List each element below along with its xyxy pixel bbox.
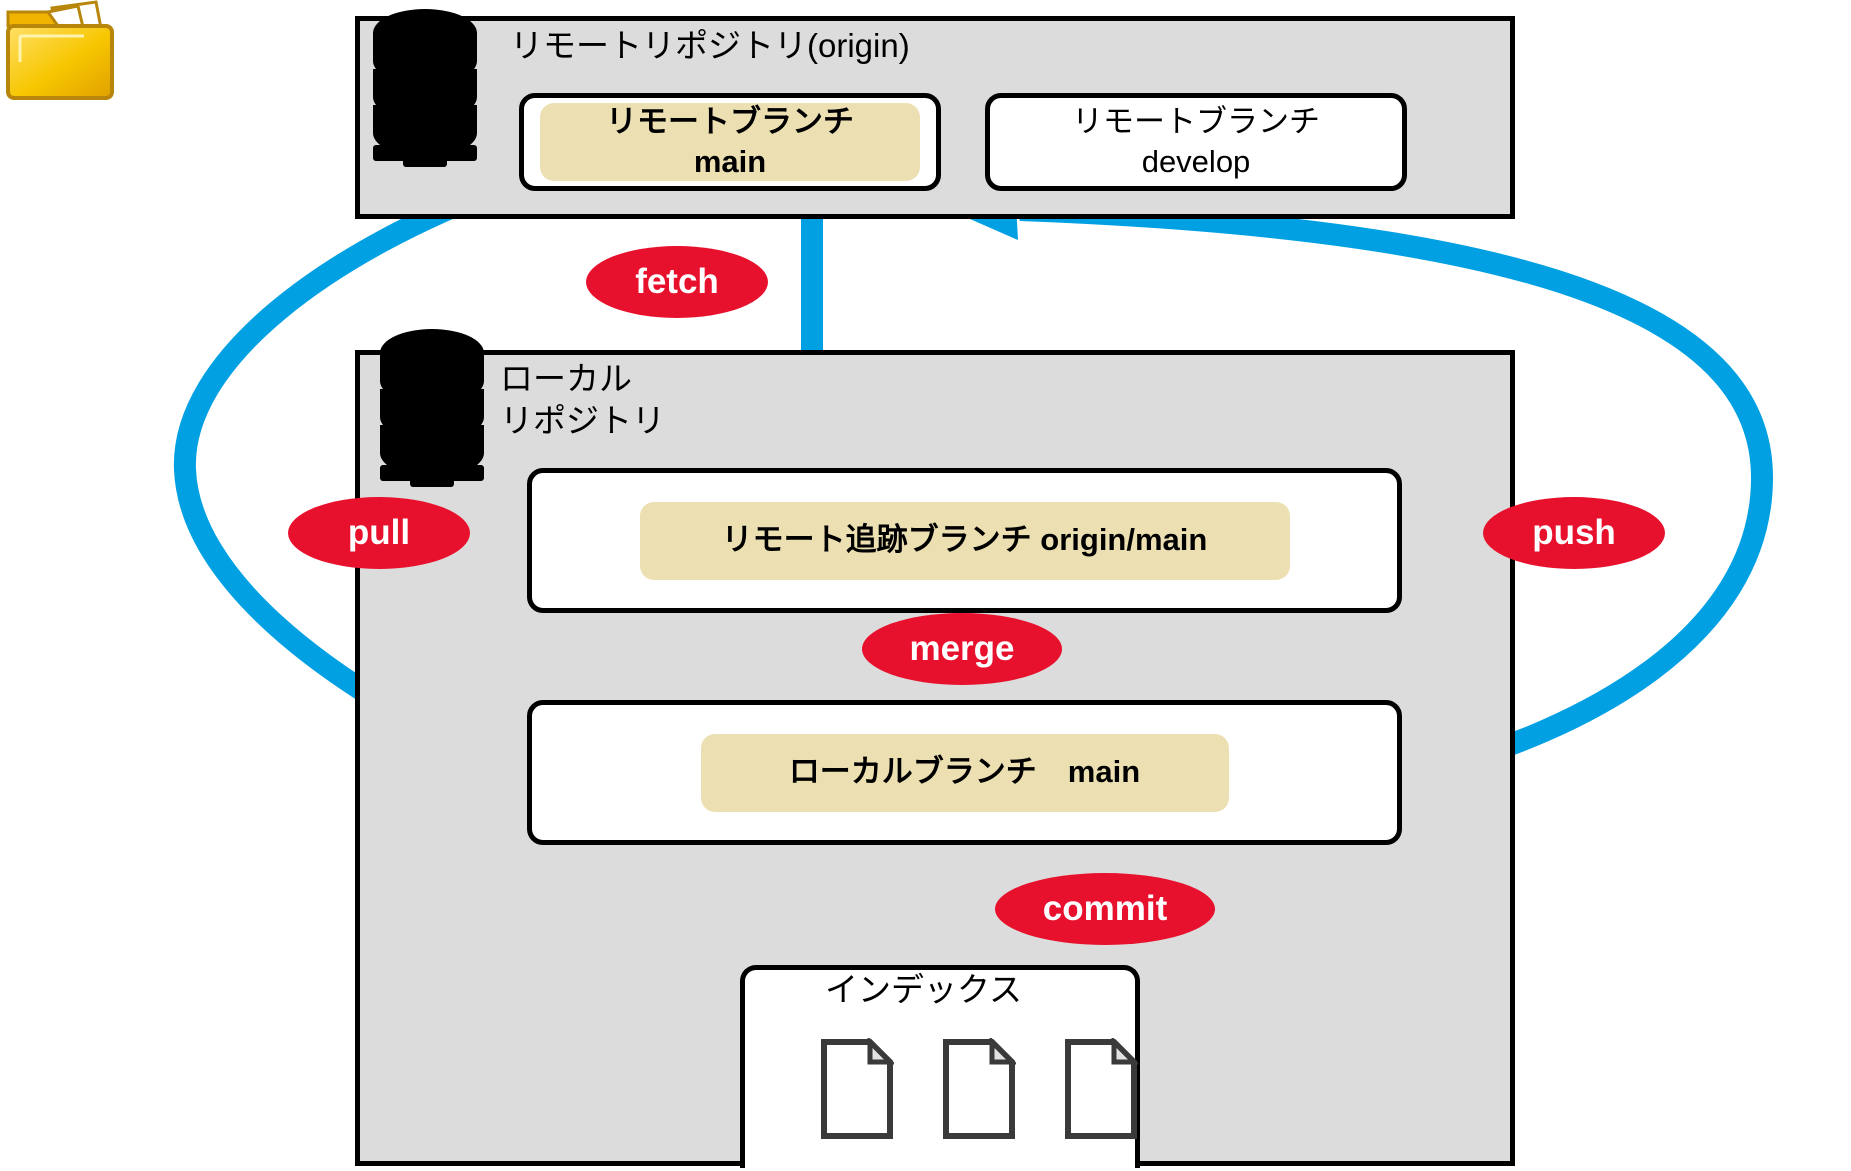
remote-branch-main-label-line1: リモートブランチ — [606, 102, 854, 142]
operation-label-pull: pull — [288, 497, 470, 569]
remote-branch-develop-fill: リモートブランチ develop — [1006, 103, 1386, 181]
local-repository-title: ローカル リポジトリ — [500, 358, 665, 442]
remote-branch-develop-label-line1: リモートブランチ — [1072, 102, 1320, 142]
remote-branch-develop-label-line2: develop — [1142, 142, 1251, 182]
diagram-canvas: .ar { fill: none; stroke: #00a0e3; strok… — [0, 0, 1851, 1171]
local-branch-label: ローカルブランチ main — [789, 752, 1140, 792]
database-icon — [352, 325, 512, 495]
remote-branch-main-label-line2: main — [694, 142, 766, 182]
file-icon — [942, 1038, 1016, 1140]
remote-branch-main[interactable]: リモートブランチ main — [519, 93, 941, 191]
folder-icon — [0, 0, 120, 105]
index-label: インデックス — [825, 963, 1022, 1011]
remote-tracking-branch-box[interactable]: リモート追跡ブランチ origin/main — [527, 468, 1402, 613]
operation-label-fetch: fetch — [586, 246, 768, 318]
index-file-list — [820, 1038, 1138, 1140]
operation-label-merge: merge — [862, 613, 1062, 685]
remote-repository-title: リモートリポジトリ(origin) — [510, 25, 910, 67]
remote-branch-develop[interactable]: リモートブランチ develop — [985, 93, 1407, 191]
database-icon — [345, 5, 505, 175]
remote-tracking-branch-fill: リモート追跡ブランチ origin/main — [640, 502, 1290, 580]
local-branch-box[interactable]: ローカルブランチ main — [527, 700, 1402, 845]
file-icon — [1064, 1038, 1138, 1140]
file-icon — [820, 1038, 894, 1140]
remote-branch-main-fill: リモートブランチ main — [540, 103, 920, 181]
operation-label-commit: commit — [995, 873, 1215, 945]
operation-label-push: push — [1483, 497, 1665, 569]
local-branch-fill: ローカルブランチ main — [701, 734, 1229, 812]
remote-tracking-branch-label: リモート追跡ブランチ origin/main — [722, 520, 1208, 560]
